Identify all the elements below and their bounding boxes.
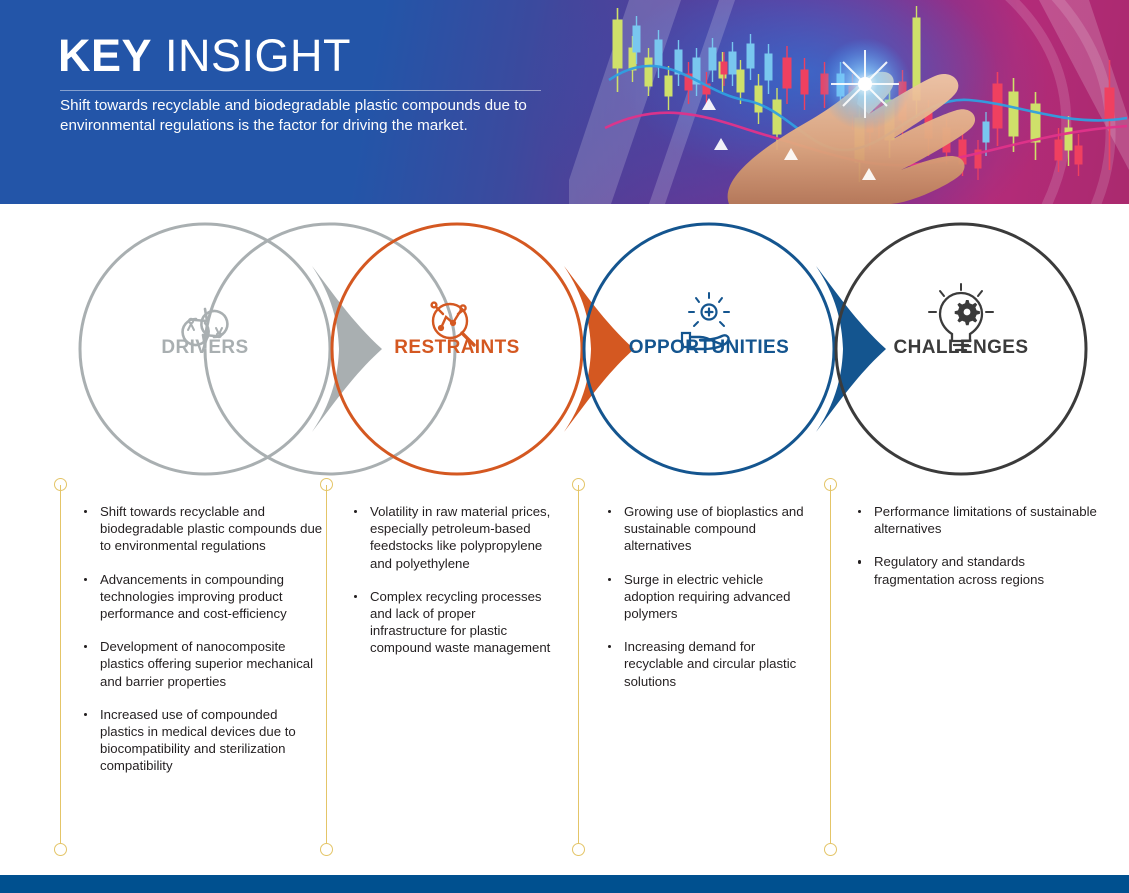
page-title: KEY INSIGHT [58, 30, 351, 82]
list-item: Development of nanocomposite plastics of… [78, 638, 323, 690]
page-title-rest: INSIGHT [152, 30, 351, 81]
divider-knob-bottom [572, 843, 585, 856]
list-item: Volatility in raw material prices, espec… [348, 503, 553, 572]
header-banner: KEY INSIGHT Shift towards recyclable and… [0, 0, 1129, 204]
list-item: Complex recycling processes and lack of … [348, 588, 553, 657]
bullet-list-drivers: Shift towards recyclable and biodegradab… [78, 503, 323, 775]
bullet-column-drivers: Shift towards recyclable and biodegradab… [78, 503, 323, 791]
bullet-list-restraints: Volatility in raw material prices, espec… [348, 503, 553, 657]
stage-label-opportunities[interactable]: OPPORTUNITIES [629, 337, 789, 359]
bullet-column-challenges: Performance limitations of sustainable a… [852, 503, 1097, 604]
title-divider-rule [60, 90, 541, 91]
stage-label-restraints[interactable]: RESTRAINTS [394, 337, 519, 359]
column-divider-3 [572, 478, 586, 856]
list-item: Performance limitations of sustainable a… [852, 503, 1097, 537]
list-item: Increasing demand for recyclable and cir… [602, 638, 817, 690]
bullet-column-restraints: Volatility in raw material prices, espec… [348, 503, 553, 673]
page-subtitle: Shift towards recyclable and biodegradab… [60, 96, 620, 136]
divider-stem [830, 485, 831, 849]
bullet-list-opportunities: Growing use of bioplastics and sustainab… [602, 503, 817, 690]
list-item: Increased use of compounded plastics in … [78, 706, 323, 775]
list-item: Advancements in compounding technologies… [78, 571, 323, 623]
page-title-bold: KEY [58, 30, 152, 81]
divider-stem [60, 485, 61, 849]
stage-flow-diagram: DRIVERS RESTRAINTS OPPORTUNITIES CHALLEN… [0, 204, 1129, 494]
divider-knob-bottom [824, 843, 837, 856]
divider-stem [578, 485, 579, 849]
list-item: Growing use of bioplastics and sustainab… [602, 503, 817, 555]
divider-stem [326, 485, 327, 849]
list-item: Shift towards recyclable and biodegradab… [78, 503, 323, 555]
list-item: Surge in electric vehicle adoption requi… [602, 571, 817, 623]
list-item: Regulatory and standards fragmentation a… [852, 553, 1097, 587]
column-divider-4 [824, 478, 838, 856]
stage-label-drivers[interactable]: DRIVERS [161, 337, 248, 359]
column-divider-1 [54, 478, 68, 856]
divider-knob-bottom [54, 843, 67, 856]
footer-bar [0, 875, 1129, 893]
bullet-column-opportunities: Growing use of bioplastics and sustainab… [602, 503, 817, 706]
bullet-list-challenges: Performance limitations of sustainable a… [852, 503, 1097, 588]
divider-knob-bottom [320, 843, 333, 856]
stage-label-challenges[interactable]: CHALLENGES [894, 337, 1029, 359]
